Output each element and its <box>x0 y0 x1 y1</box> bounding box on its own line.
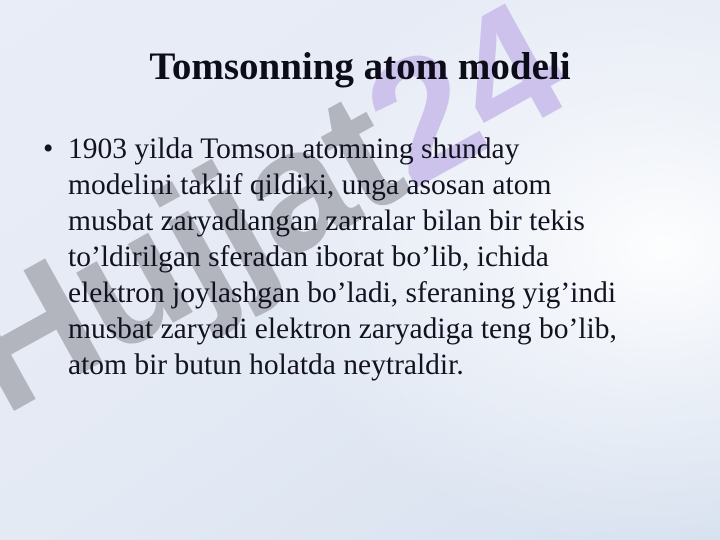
slide-title: Tomsonning atom modeli <box>36 44 684 90</box>
bullet-line-6: musbat zaryadi elektron zaryadiga teng b… <box>68 311 698 347</box>
bullet-line-7: atom bir butun holatda neytraldir. <box>68 347 698 383</box>
slide-body: • 1903 yilda Tomson atomning shunday mod… <box>30 131 698 383</box>
slide-canvas: Hujjat24 Tomsonning atom modeli • 1903 y… <box>0 0 720 540</box>
bullet-line-3: musbat zaryadlangan zarralar bilan bir t… <box>68 203 698 239</box>
bullet-list-item: • 1903 yilda Tomson atomning shunday mod… <box>30 131 698 383</box>
bullet-line-4: to’ldirilgan sferadan iborat bo’lib, ich… <box>68 239 698 275</box>
bullet-line-5: elektron joylashgan bo’ladi, sferaning y… <box>68 275 698 311</box>
bullet-line-2: modelini taklif qildiki, unga asosan ato… <box>68 167 698 203</box>
bullet-point-icon: • <box>43 131 53 167</box>
bullet-line-1: 1903 yilda Tomson atomning shunday <box>68 131 698 167</box>
